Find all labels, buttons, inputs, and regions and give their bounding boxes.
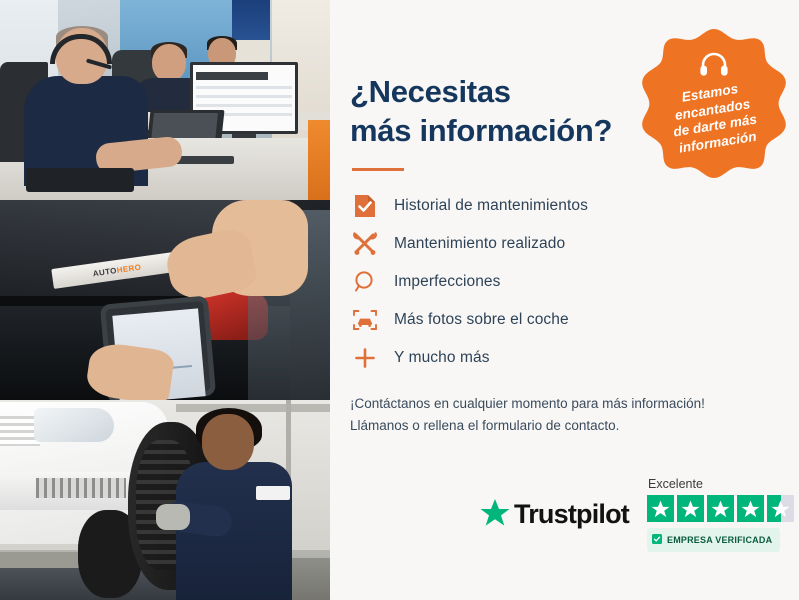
feature-label: Más fotos sobre el coche (394, 311, 569, 329)
wall-poster-lower (232, 40, 270, 62)
feature-label: Mantenimiento realizado (394, 235, 565, 253)
verified-badge: EMPRESA VERIFICADA (647, 528, 780, 552)
rating-label: Excelente (648, 477, 703, 491)
feature-list: Historial de mantenimientos M (350, 187, 765, 377)
trustpilot-wordmark: Trustpilot (514, 499, 629, 530)
contact-line-2: Llámanos o rellena el formulario de cont… (350, 418, 619, 433)
star-filled (707, 495, 734, 522)
contact-line-1: ¡Contáctanos en cualquier momento para m… (350, 396, 705, 411)
monitor-toolbar (196, 72, 268, 80)
feature-item-historial: Historial de mantenimientos (350, 187, 765, 225)
photo-column: AUTOHERO (0, 0, 330, 600)
tools-cross-icon (350, 231, 380, 257)
trustpilot-star-icon (480, 498, 510, 532)
car-scan-icon (350, 307, 380, 333)
feature-label: Y mucho más (394, 349, 490, 367)
magnifier-icon (350, 269, 380, 295)
star-half (767, 495, 794, 522)
mechanic-uniform-logo (256, 486, 290, 500)
call-center-agents-photo (0, 0, 330, 200)
info-banner: AUTOHERO (0, 0, 799, 600)
star-rating (647, 495, 794, 522)
feature-item-fotos: Más fotos sobre el coche (350, 301, 765, 339)
orange-equipment (308, 120, 330, 200)
plus-icon (350, 345, 380, 371)
feature-item-mantenimiento: Mantenimiento realizado (350, 225, 765, 263)
document-check-icon (350, 193, 380, 219)
contact-badge: Estamos encantados de darte más informac… (638, 26, 790, 178)
trustpilot-widget[interactable]: Trustpilot Excelente (480, 477, 794, 552)
feature-label: Historial de mantenimientos (394, 197, 588, 215)
verified-check-icon (652, 531, 662, 549)
car-air-vent (36, 478, 126, 498)
trustpilot-rating: Excelente (647, 477, 794, 552)
headline-line-2: más información? (350, 113, 612, 148)
contact-text: ¡Contáctanos en cualquier momento para m… (350, 393, 765, 438)
page-title: ¿Necesitas más información? (350, 72, 640, 150)
mechanic-head (202, 414, 254, 470)
headset-icon (699, 52, 729, 83)
accent-divider (352, 168, 404, 171)
mechanic-wheel-check-photo (0, 400, 330, 600)
star-filled (737, 495, 764, 522)
agent-two-head (152, 44, 186, 82)
feature-item-mucho-mas: Y mucho más (350, 339, 765, 377)
workshop-shelf (176, 404, 330, 412)
ruler-brand-label: AUTOHERO (92, 262, 142, 278)
star-filled (647, 495, 674, 522)
headline-line-1: ¿Necesitas (350, 74, 511, 109)
trustpilot-logo[interactable]: Trustpilot (480, 498, 629, 532)
content-panel: ¿Necesitas más información? Historial de… (330, 0, 799, 600)
feature-label: Imperfecciones (394, 273, 501, 291)
verified-label: EMPRESA VERIFICADA (667, 535, 772, 545)
desk-tablet (26, 168, 134, 192)
star-filled (677, 495, 704, 522)
mechanic-glove (156, 504, 190, 530)
car-headlight (34, 408, 114, 442)
feature-item-imperfecciones: Imperfecciones (350, 263, 765, 301)
car-inspection-ruler-photo: AUTOHERO (0, 200, 330, 400)
